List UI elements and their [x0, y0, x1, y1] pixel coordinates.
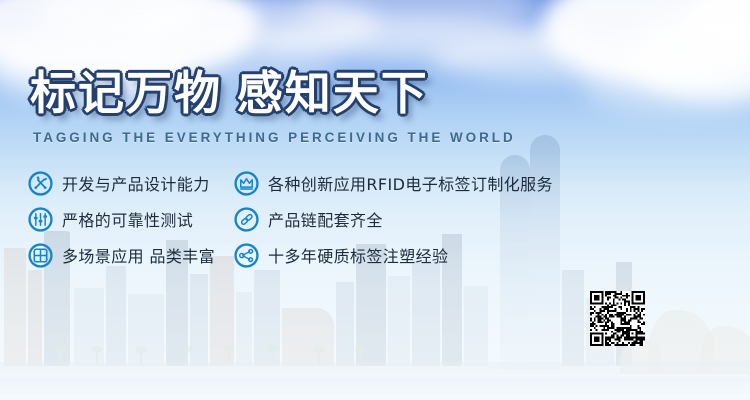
- sliders-icon: [28, 207, 53, 232]
- qr-code[interactable]: [590, 291, 645, 346]
- feature-item: 十多年硬质标签注塑经验: [234, 237, 553, 273]
- qr-code-canvas: [590, 291, 645, 346]
- page-title: 标记万物 感知天下: [30, 70, 429, 116]
- promo-banner: 标记万物 感知天下 TAGGING THE EVERYTHING PERCEIV…: [0, 0, 750, 400]
- feature-label: 多场景应用 品类丰富: [62, 243, 215, 267]
- feature-item: 开发与产品设计能力: [28, 165, 215, 201]
- water: [0, 378, 750, 400]
- share-network-icon: [234, 243, 259, 268]
- feature-item: 严格的可靠性测试: [28, 201, 215, 237]
- feature-label: 严格的可靠性测试: [62, 207, 193, 231]
- feature-item: 多场景应用 品类丰富: [28, 237, 215, 273]
- feature-label: 各种创新应用RFID电子标签订制化服务: [268, 171, 553, 195]
- grid-squares-icon: [28, 243, 53, 268]
- feature-label: 开发与产品设计能力: [62, 171, 210, 195]
- feature-column-right: 各种创新应用RFID电子标签订制化服务 产品链配套齐全: [234, 165, 553, 273]
- crown-icon: [234, 171, 259, 196]
- feature-column-left: 开发与产品设计能力 严格的可靠性测试: [28, 165, 215, 273]
- page-subtitle: TAGGING THE EVERYTHING PERCEIVING THE WO…: [33, 129, 516, 145]
- chain-link-icon: [234, 207, 259, 232]
- crossed-tools-icon: [28, 171, 53, 196]
- feature-item: 各种创新应用RFID电子标签订制化服务: [234, 165, 553, 201]
- feature-label: 产品链配套齐全: [268, 207, 383, 231]
- feature-item: 产品链配套齐全: [234, 201, 553, 237]
- feature-label: 十多年硬质标签注塑经验: [268, 243, 448, 267]
- cloud-shape: [580, 62, 750, 112]
